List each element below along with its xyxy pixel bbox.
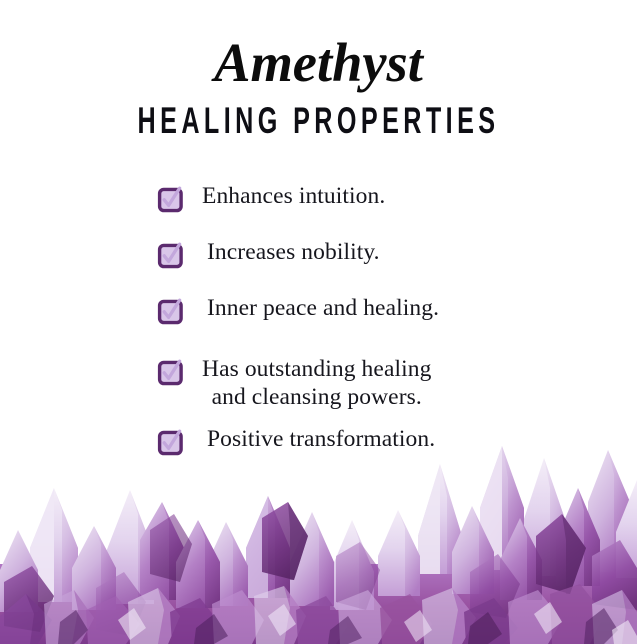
list-item: Enhances intuition.: [0, 182, 637, 212]
page-subtitle: HEALING PROPERTIES: [102, 101, 535, 141]
list-item-label: Inner peace and healing.: [207, 294, 439, 322]
checked-checkbox-icon: [158, 187, 183, 212]
list-item: Increases nobility.: [0, 238, 637, 268]
list-item: Has outstanding healing and cleansing po…: [0, 355, 637, 411]
checked-checkbox-icon: [158, 243, 183, 268]
checked-checkbox-icon: [158, 299, 183, 324]
checked-checkbox-icon: [158, 360, 183, 385]
amethyst-crystal-border-image: [0, 444, 637, 644]
page-title: Amethyst: [3, 34, 634, 92]
list-item-label: Has outstanding healing and cleansing po…: [202, 355, 431, 411]
amethyst-healing-properties-poster: Amethyst HEALING PROPERTIES Enhances int…: [0, 0, 637, 644]
list-item-label: Increases nobility.: [207, 238, 380, 266]
poster-header: Amethyst HEALING PROPERTIES: [0, 0, 637, 141]
list-item-label: Enhances intuition.: [202, 182, 385, 210]
list-item: Inner peace and healing.: [0, 294, 637, 324]
